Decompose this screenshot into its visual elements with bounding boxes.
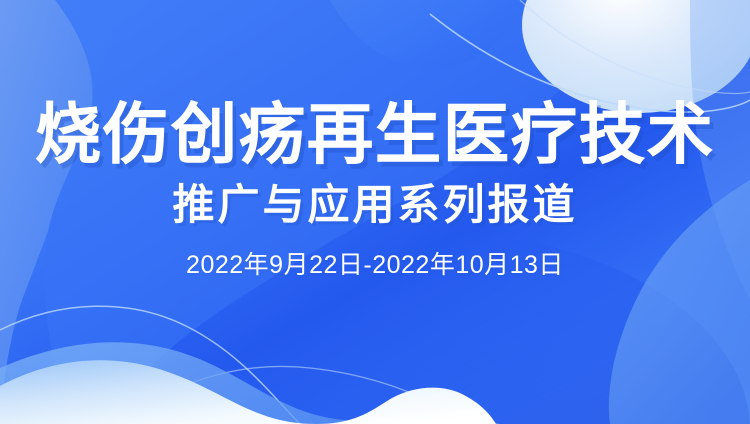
banner-subtitle: 推广与应用系列报道 [172, 183, 577, 228]
banner-content: 烧伤创疡再生医疗技术 推广与应用系列报道 2022年9月22日-2022年10月… [0, 0, 750, 424]
promo-banner: 烧伤创疡再生医疗技术 推广与应用系列报道 2022年9月22日-2022年10月… [0, 0, 750, 424]
banner-date-range: 2022年9月22日-2022年10月13日 [186, 245, 564, 281]
banner-title: 烧伤创疡再生医疗技术 [35, 100, 715, 169]
